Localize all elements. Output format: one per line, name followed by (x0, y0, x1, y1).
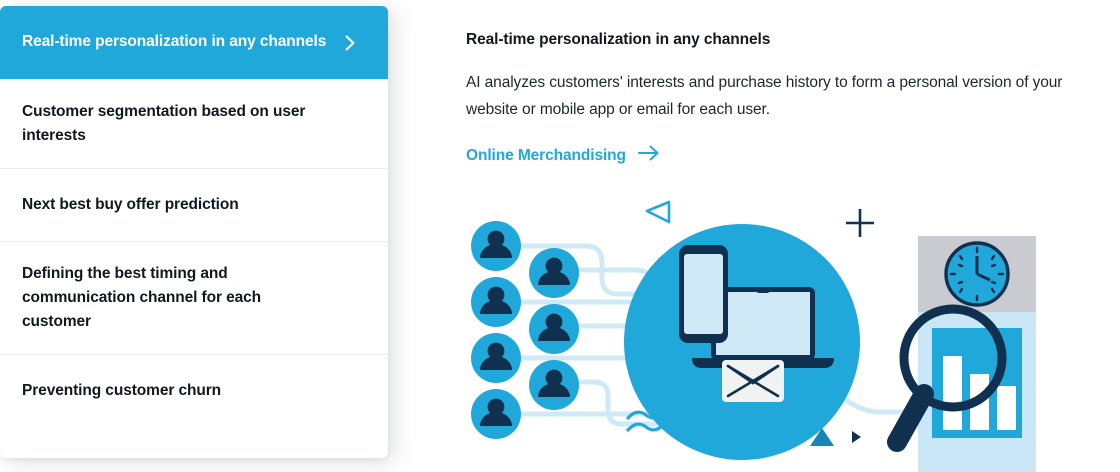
avatar (471, 389, 521, 439)
content-description: AI analyzes customers' interests and pur… (466, 70, 1100, 123)
illustration-canvas (466, 198, 1120, 472)
avatar-group (471, 221, 579, 439)
plus-sign-icon (846, 209, 874, 237)
sidebar-item-customer-segmentation[interactable]: Customer segmentation based on user inte… (0, 79, 388, 168)
sidebar-item-preventing-churn[interactable]: Preventing customer churn (0, 354, 388, 427)
sidebar-item-label: Preventing customer churn (22, 379, 221, 403)
content-pane: Real-time personalization in any channel… (466, 0, 1120, 472)
personalization-illustration (466, 198, 1120, 472)
avatar (529, 304, 579, 354)
smartphone-icon (679, 245, 728, 343)
avatar (471, 221, 521, 271)
avatar (529, 360, 579, 410)
chevron-right-icon (340, 33, 360, 53)
online-merchandising-link[interactable]: Online Merchandising (466, 145, 660, 166)
sidebar-item-label: Real-time personalization in any channel… (22, 30, 326, 54)
clock-icon (946, 243, 1008, 305)
sidebar-item-best-timing[interactable]: Defining the best timing and communicati… (0, 241, 388, 354)
arrow-right-icon (638, 145, 660, 166)
sidebar-item-label: Next best buy offer prediction (22, 193, 239, 217)
analytics-card (918, 236, 1036, 472)
envelope-icon (722, 360, 784, 402)
accordion-sidebar: Real-time personalization in any channel… (0, 6, 388, 458)
sidebar-item-label: Customer segmentation based on user inte… (22, 100, 330, 148)
avatar (529, 248, 579, 298)
sidebar-item-real-time-personalization[interactable]: Real-time personalization in any channel… (0, 6, 388, 79)
page-root: Real-time personalization in any channel… (0, 0, 1120, 472)
avatar (471, 277, 521, 327)
link-label: Online Merchandising (466, 147, 626, 165)
triangle-right-small-icon (852, 431, 861, 443)
sidebar-item-next-best-buy[interactable]: Next best buy offer prediction (0, 168, 388, 241)
sidebar-item-label: Defining the best timing and communicati… (22, 262, 330, 334)
avatar (471, 333, 521, 383)
page-title: Real-time personalization in any channel… (466, 31, 1120, 49)
triangle-outline-left-icon (647, 202, 669, 222)
